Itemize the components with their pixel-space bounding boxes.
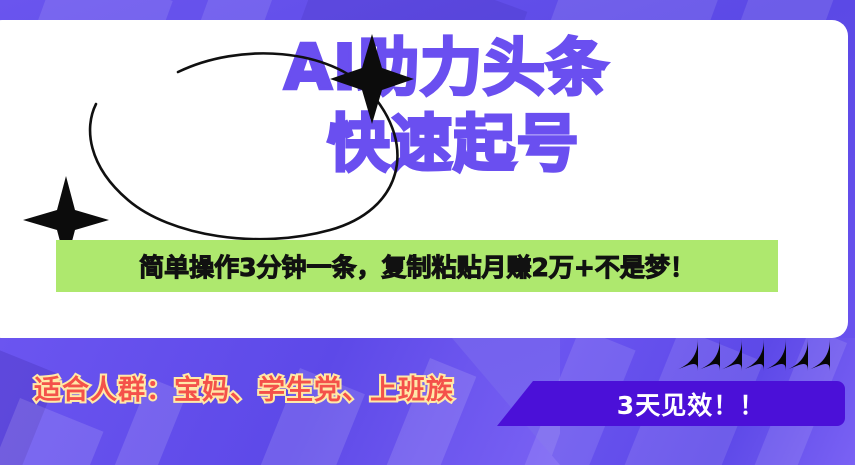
chevron-left-icon bbox=[764, 339, 786, 371]
highlight-text: 简单操作3分钟一条，复制粘贴月赚2万+不是梦！ bbox=[56, 240, 778, 292]
promo-poster: AI助力头条 快速起号 简单操作3分钟一条，复制粘贴月赚2万+不是梦！ 适合人群… bbox=[0, 0, 855, 465]
chevron-left-icon bbox=[786, 339, 808, 371]
title-block: AI助力头条 快速起号 bbox=[0, 36, 855, 176]
cta-text: 3天见效！！ bbox=[556, 381, 826, 426]
panel-streak bbox=[0, 398, 103, 465]
chevron-left-icon bbox=[720, 339, 742, 371]
chevron-arrow-group bbox=[676, 339, 836, 371]
title-line-2: 快速起号 bbox=[52, 112, 855, 176]
chevron-left-icon bbox=[808, 339, 830, 371]
title-line-1: AI助力头条 bbox=[38, 36, 855, 100]
chevron-left-icon bbox=[676, 339, 698, 371]
audience-text: 适合人群：宝妈、学生党、上班族 bbox=[34, 368, 454, 407]
chevron-left-icon bbox=[698, 339, 720, 371]
chevron-left-icon bbox=[742, 339, 764, 371]
